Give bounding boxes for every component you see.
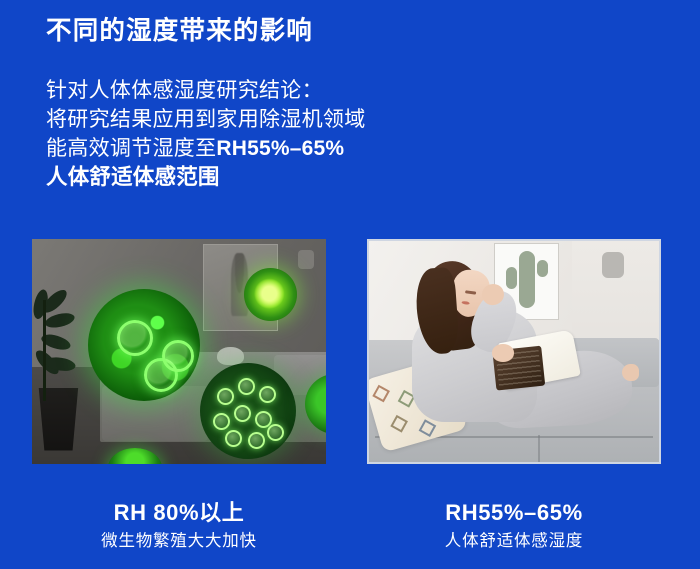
microbe-cluster-large [88, 289, 200, 401]
photo-comfort-humidity [367, 239, 661, 464]
intro-paragraph: 针对人体体感湿度研究结论： 将研究结果应用到家用除湿机领域 能高效调节湿度至RH… [46, 76, 666, 192]
microbe-cell [117, 320, 153, 356]
heading-block: 不同的湿度带来的影响 [46, 16, 666, 48]
microbe-cluster-bottom [200, 363, 296, 459]
intro-line-3-prefix: 能高效调节湿度至 [46, 137, 216, 160]
microbe-cell [162, 340, 194, 372]
photo-high-humidity [32, 239, 326, 464]
intro-line-3: 能高效调节湿度至RH55%–65% [46, 134, 666, 163]
plant-icon [32, 300, 94, 401]
sofa-cushion [217, 347, 243, 365]
hand-on-book [492, 344, 514, 362]
wall-speaker-icon [298, 250, 314, 269]
caption-main: RH55%–65% [367, 498, 661, 528]
intro-line-3-highlight: RH55%–65% [216, 137, 344, 160]
caption-comfort-humidity: RH55%–65% 人体舒适体感湿度 [367, 498, 661, 554]
scene-bright-living-room [369, 241, 659, 462]
intro-line-4: 人体舒适体感范围 [46, 163, 666, 192]
scene-dim-living-room [32, 239, 326, 464]
woman-reading [392, 259, 641, 453]
caption-high-humidity: RH 80%以上 微生物繁殖大大加快 [32, 498, 326, 554]
foot [622, 364, 639, 382]
caption-main: RH 80%以上 [32, 498, 326, 528]
intro-line-2: 将研究结果应用到家用除湿机领域 [46, 105, 666, 134]
caption-sub: 人体舒适体感湿度 [367, 528, 661, 554]
caption-sub: 微生物繁殖大大加快 [32, 528, 326, 554]
humidity-infographic: 不同的湿度带来的影响 针对人体体感湿度研究结论： 将研究结果应用到家用除湿机领域… [0, 0, 700, 569]
microbe-small-top [244, 268, 297, 321]
page-title: 不同的湿度带来的影响 [46, 16, 666, 48]
intro-line-1: 针对人体体感湿度研究结论： [46, 76, 666, 105]
